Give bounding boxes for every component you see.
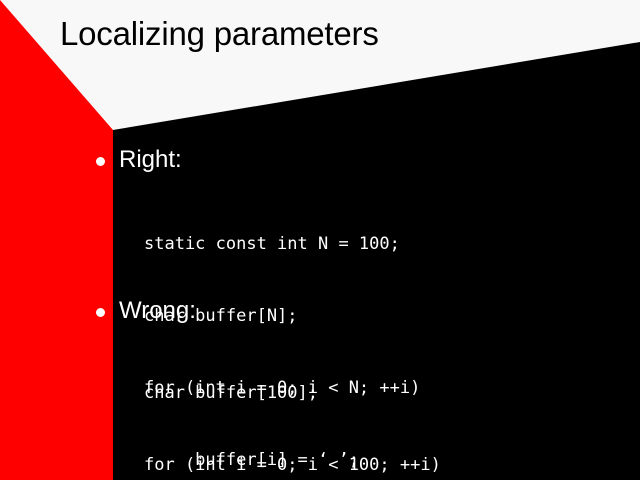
code-line: static const int N = 100;: [144, 232, 420, 256]
bullet-dot-wrong: [96, 308, 105, 317]
slide-body: Right: static const int N = 100; char bu…: [0, 0, 640, 480]
code-line: for (int i = 0; i < 100; ++i): [144, 453, 441, 477]
code-line: char buffer[100];: [144, 381, 441, 405]
bullet-label-wrong: Wrong:: [119, 297, 196, 325]
code-block-wrong: char buffer[100]; for (int i = 0; i < 10…: [144, 333, 441, 480]
slide-canvas: Localizing parameters Right: static cons…: [0, 0, 640, 480]
bullet-dot-right: [96, 157, 105, 166]
bullet-label-right: Right:: [119, 146, 182, 174]
